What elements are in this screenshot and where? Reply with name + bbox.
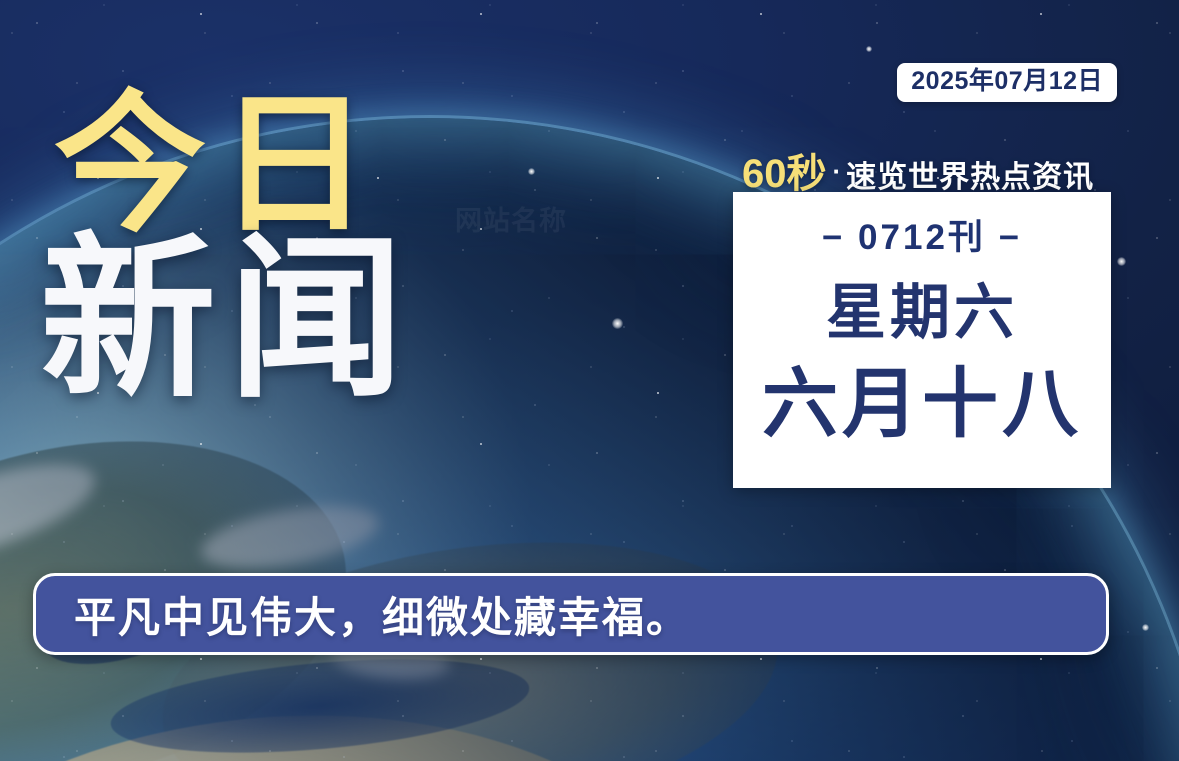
tagline: 60秒·速览世界热点资讯: [742, 141, 1094, 199]
quote-banner: 平凡中见伟大，细微处藏幸福。: [33, 573, 1109, 655]
news-poster: 网站名称 2025年07月12日 今日 新闻 60秒·速览世界热点资讯 − 07…: [0, 0, 1179, 761]
issue-number: − 0712刊 −: [822, 209, 1022, 260]
tagline-seconds: 60秒: [742, 152, 827, 196]
lunar-date-label: 六月十八: [762, 367, 1082, 443]
date-badge: 2025年07月12日: [897, 63, 1117, 102]
tagline-text: 速览世界热点资讯: [846, 161, 1094, 194]
page-title-line-2: 新闻: [40, 240, 416, 402]
weekday-label: 星期六: [826, 283, 1018, 343]
tagline-separator: ·: [833, 156, 842, 186]
quote-text: 平凡中见伟大，细微处藏幸福。: [36, 584, 690, 645]
page-title-line-1: 今日: [54, 96, 416, 236]
date-info-card: − 0712刊 − 星期六 六月十八: [733, 192, 1111, 488]
watermark-text: 网站名称: [455, 199, 567, 238]
page-title: 今日 新闻: [54, 96, 416, 402]
